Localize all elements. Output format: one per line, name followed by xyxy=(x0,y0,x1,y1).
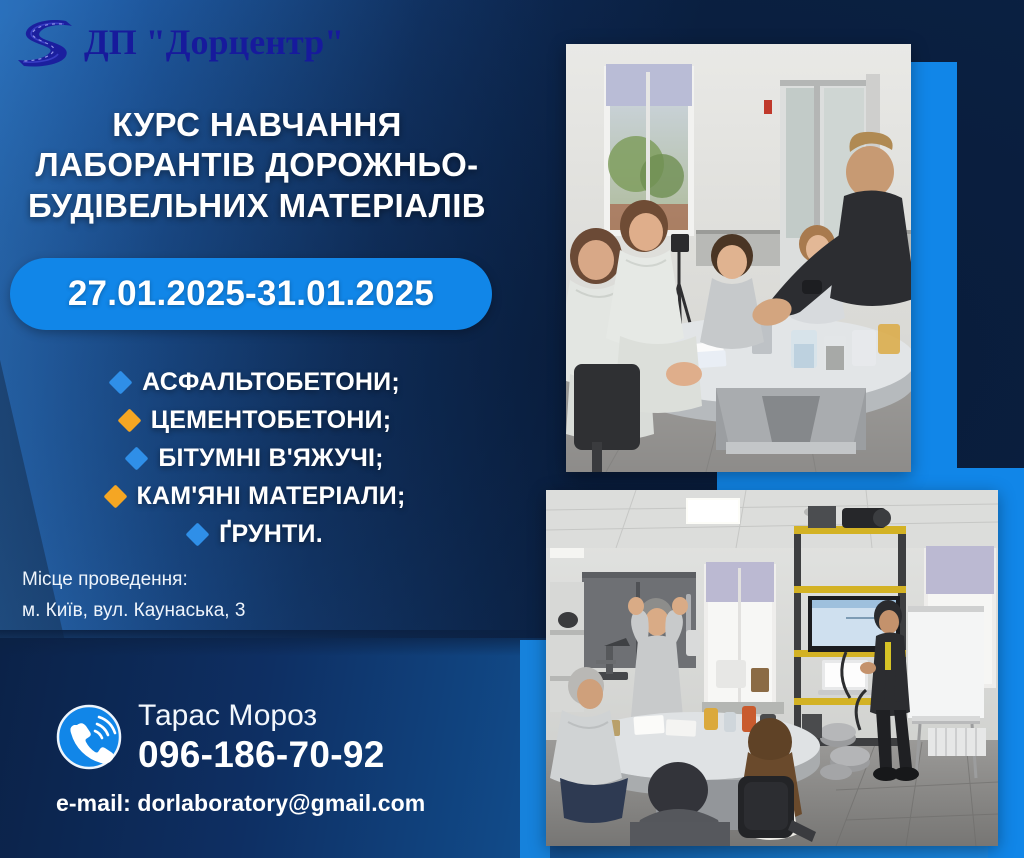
venue-address: м. Київ, вул. Каунаська, 3 xyxy=(22,596,245,627)
topic-label: БІТУМНІ В'ЯЖУЧІ; xyxy=(158,444,383,473)
page-title: КУРС НАВЧАННЯ ЛАБОРАНТІВ ДОРОЖНЬО-БУДІВЕ… xyxy=(6,105,508,226)
date-badge-label: 27.01.2025-31.01.2025 xyxy=(68,274,434,314)
diamond-bullet-icon xyxy=(125,446,149,470)
list-item: ЦЕМЕНТОБЕТОНИ; xyxy=(0,401,512,439)
list-item: АСФАЛЬТОБЕТОНИ; xyxy=(0,363,512,401)
contact-main-row: Тарас Мороз 096-186-70-92 xyxy=(56,700,496,774)
topic-label: КАМ'ЯНІ МАТЕРІАЛИ; xyxy=(137,482,406,511)
brand-logo: ДП "Дорцентр" xyxy=(14,16,344,68)
diamond-bullet-icon xyxy=(117,408,141,432)
contact-phone[interactable]: 096-186-70-92 xyxy=(138,736,385,775)
brand-logo-text: ДП "Дорцентр" xyxy=(84,24,344,60)
venue-heading: Місце проведення: xyxy=(22,565,245,596)
contact-name: Тарас Мороз xyxy=(138,700,385,732)
topics-list: АСФАЛЬТОБЕТОНИ; ЦЕМЕНТОБЕТОНИ; БІТУМНІ В… xyxy=(0,363,512,553)
contact-text-group: Тарас Мороз 096-186-70-92 xyxy=(138,700,385,774)
date-badge: 27.01.2025-31.01.2025 xyxy=(10,258,492,330)
list-item: ҐРУНТИ. xyxy=(0,515,512,553)
contact-email[interactable]: e-mail: dorlaboratory@gmail.com xyxy=(56,790,496,817)
promo-poster: ДП "Дорцентр" КУРС НАВЧАННЯ ЛАБОРАНТІВ Д… xyxy=(0,0,1024,858)
photo-bottom-illustration xyxy=(546,490,998,846)
contact-block: Тарас Мороз 096-186-70-92 e-mail: dorlab… xyxy=(56,700,496,817)
topic-label: ЦЕМЕНТОБЕТОНИ; xyxy=(151,406,391,435)
venue-block: Місце проведення: м. Київ, вул. Каунаськ… xyxy=(22,565,245,627)
diamond-bullet-icon xyxy=(109,370,133,394)
diamond-bullet-icon xyxy=(186,522,210,546)
accent-bar-top-right xyxy=(905,62,957,482)
diamond-bullet-icon xyxy=(103,484,127,508)
list-item: БІТУМНІ В'ЯЖУЧІ; xyxy=(0,439,512,477)
topic-label: АСФАЛЬТОБЕТОНИ; xyxy=(142,368,400,397)
photo-lab-training-bottom xyxy=(546,490,998,846)
photo-lab-classroom-top xyxy=(566,44,911,472)
phone-call-icon[interactable] xyxy=(56,704,122,770)
photo-top-illustration xyxy=(566,44,911,472)
road-s-logo-icon xyxy=(14,16,76,68)
list-item: КАМ'ЯНІ МАТЕРІАЛИ; xyxy=(0,477,512,515)
topic-label: ҐРУНТИ. xyxy=(219,520,323,549)
